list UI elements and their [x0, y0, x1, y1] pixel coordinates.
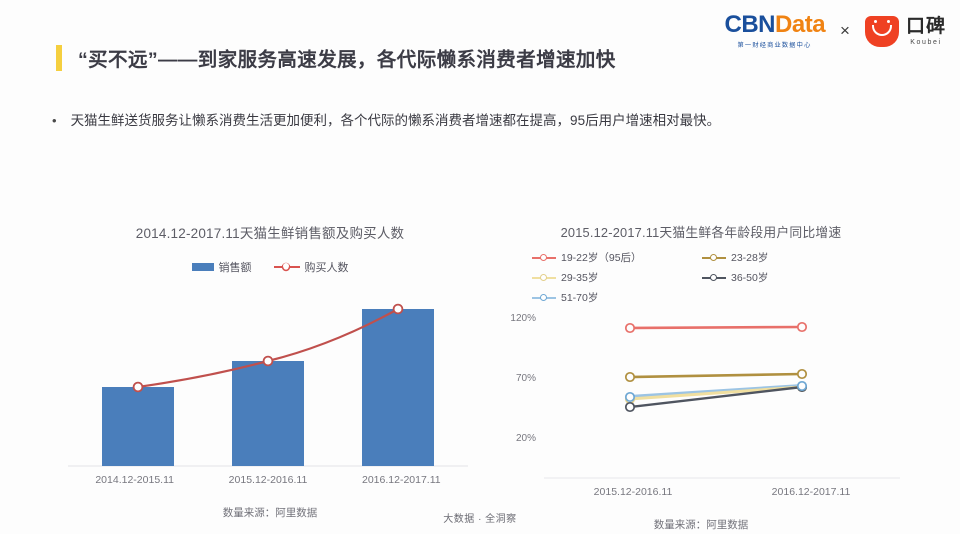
brand-separator-icon: × [839, 21, 851, 41]
koubei-chinese-text: 口碑 [906, 17, 946, 36]
chart-right-legend: 19-22岁（95后） 23-28岁 29-35岁 36-50岁 [532, 250, 916, 305]
legend-marker-36-50-icon [702, 273, 726, 282]
cbndata-subtitle: 第一财经商业数据中心 [738, 39, 812, 49]
legend-item-36-50[interactable]: 36-50岁 [702, 270, 872, 285]
point-buyers-1 [134, 383, 143, 392]
chart-right-plot-area: 120% 70% 20% [500, 319, 900, 479]
bar-2016-2017 [362, 309, 434, 466]
line-23-28 [630, 374, 802, 377]
slide-footer: 大数据 · 全洞察 [0, 510, 960, 525]
point-23-28-2 [798, 370, 806, 378]
cbndata-primary-text: CBN [725, 11, 776, 38]
point-36-50-1 [626, 403, 634, 411]
cbndata-wordmark: CBNData [725, 13, 826, 37]
legend-label-36-50: 36-50岁 [731, 270, 768, 285]
point-51-70-1 [626, 393, 634, 401]
chart-right-title: 2015.12-2017.11天猫生鲜各年龄段用户同比增速 [486, 222, 916, 241]
chart-right-y-axis: 120% 70% 20% [500, 319, 540, 479]
point-19-22-2 [798, 323, 806, 331]
koubei-smile-icon [872, 25, 892, 36]
y-label-20: 20% [516, 433, 536, 444]
point-51-70-2 [798, 382, 806, 390]
legend-item-buyers[interactable]: 购买人数 [274, 259, 349, 275]
legend-label-23-28: 23-28岁 [731, 250, 768, 265]
legend-item-19-22[interactable]: 19-22岁（95后） [532, 250, 702, 265]
legend-marker-51-70-icon [532, 293, 556, 302]
koubei-logo: 口碑 Koubei [865, 16, 946, 47]
brand-logo-bar: CBNData 第一财经商业数据中心 × 口碑 Koubei [725, 13, 946, 49]
chart-age-growth: 2015.12-2017.11天猫生鲜各年龄段用户同比增速 19-22岁（95后… [486, 214, 916, 504]
chart-left-x-axis: 2014.12-2015.11 2015.12-2016.11 2016.12-… [68, 474, 468, 486]
bar-2014-2015 [102, 387, 174, 466]
legend-bar-swatch-icon [192, 263, 214, 271]
legend-item-23-28[interactable]: 23-28岁 [702, 250, 872, 265]
title-text: “买不远”——到家服务高速发展，各代际懒系消费者增速加快 [78, 43, 616, 72]
koubei-english-text: Koubei [910, 39, 941, 46]
koubei-wordmark: 口碑 Koubei [906, 17, 946, 46]
title-accent-bar [56, 45, 62, 71]
page-title: “买不远”——到家服务高速发展，各代际懒系消费者增速加快 [56, 43, 616, 72]
legend-item-51-70[interactable]: 51-70岁 [532, 290, 702, 305]
y-label-120: 120% [510, 313, 536, 324]
x-label-left-3: 2016.12-2017.11 [335, 474, 468, 486]
chart-sales-and-buyers: 2014.12-2017.11天猫生鲜销售额及购买人数 销售额 购买人数 [60, 214, 480, 504]
x-label-right-2: 2016.12-2017.11 [722, 486, 900, 498]
chart-left-legend: 销售额 购买人数 [60, 259, 480, 275]
chart-left-svg [68, 289, 468, 467]
x-label-left-2: 2015.12-2016.11 [201, 474, 334, 486]
x-label-left-1: 2014.12-2015.11 [68, 474, 201, 486]
y-label-70: 70% [516, 373, 536, 384]
point-buyers-3 [394, 305, 403, 314]
legend-label-19-22: 19-22岁（95后） [561, 250, 642, 265]
bullet-marker-icon: • [52, 111, 57, 131]
legend-line-swatch-icon [274, 262, 300, 272]
chart-left-title: 2014.12-2017.11天猫生鲜销售额及购买人数 [60, 222, 480, 242]
legend-item-sales[interactable]: 销售额 [192, 259, 252, 275]
chart-right-x-axis: 2015.12-2016.11 2016.12-2017.11 [500, 486, 900, 498]
legend-label-51-70: 51-70岁 [561, 290, 598, 305]
line-19-22 [630, 327, 802, 328]
legend-item-29-35[interactable]: 29-35岁 [532, 270, 702, 285]
bullet-point: • 天猫生鲜送货服务让懒系消费生活更加便利，各个代际的懒系消费者增速都在提高，9… [52, 111, 720, 131]
legend-label-sales: 销售额 [219, 259, 252, 275]
legend-marker-19-22-icon [532, 253, 556, 262]
point-buyers-2 [264, 357, 273, 366]
bullet-text: 天猫生鲜送货服务让懒系消费生活更加便利，各个代际的懒系消费者增速都在提高，95后… [71, 111, 721, 131]
legend-label-buyers: 购买人数 [305, 259, 349, 275]
legend-marker-29-35-icon [532, 273, 556, 282]
cbndata-secondary-text: Data [775, 11, 825, 38]
point-19-22-1 [626, 324, 634, 332]
legend-label-29-35: 29-35岁 [561, 270, 598, 285]
chart-left-plot-area [68, 289, 468, 467]
legend-marker-23-28-icon [702, 253, 726, 262]
chart-right-svg [544, 319, 944, 479]
point-23-28-1 [626, 373, 634, 381]
koubei-shield-icon [865, 16, 899, 47]
cbndata-logo: CBNData 第一财经商业数据中心 [725, 13, 826, 49]
x-label-right-1: 2015.12-2016.11 [544, 486, 722, 498]
bar-2015-2016 [232, 361, 304, 466]
slide-root: CBNData 第一财经商业数据中心 × 口碑 Koubei “买不远”——到家… [0, 0, 960, 534]
